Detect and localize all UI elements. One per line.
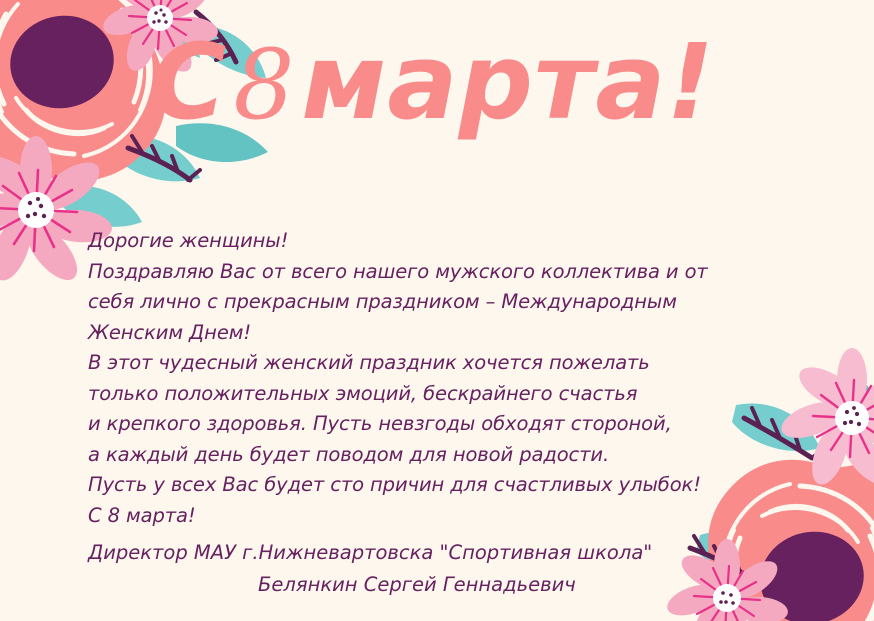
body-line: только положительных эмоций, бескрайнего… bbox=[88, 379, 778, 410]
body-line: В этот чудесный женский праздник хочется… bbox=[88, 348, 778, 379]
greeting-card: С8марта! Дорогие женщины! Поздравляю Вас… bbox=[0, 0, 874, 621]
pink-daisy-bottom-right-upper bbox=[777, 348, 874, 492]
body-line: Поздравляю Вас от всего нашего мужского … bbox=[88, 257, 778, 288]
greeting-body: Дорогие женщины! Поздравляю Вас от всего… bbox=[88, 226, 778, 531]
signature-name: Белянкин Сергей Геннадьевич bbox=[88, 569, 788, 601]
headline-suffix: марта! bbox=[301, 21, 715, 143]
body-line: Пусть у всех Вас будет сто причин для сч… bbox=[88, 470, 778, 501]
signature-title: Директор МАУ г.Нижневартовска "Спортивна… bbox=[88, 537, 788, 569]
body-line: и крепкого здоровья. Пусть невзгоды обхо… bbox=[88, 409, 778, 440]
body-line: Женским Днем! bbox=[88, 318, 778, 349]
signature-block: Директор МАУ г.Нижневартовска "Спортивна… bbox=[88, 537, 788, 601]
headline-number: 8 bbox=[227, 29, 301, 141]
body-line: а каждый день будет поводом для новой ра… bbox=[88, 440, 778, 471]
body-line: Дорогие женщины! bbox=[88, 226, 778, 257]
coral-rose-top-left bbox=[0, 0, 166, 219]
headline-prefix: С bbox=[150, 21, 227, 143]
headline: С8марта! bbox=[150, 30, 874, 134]
body-line: С 8 марта! bbox=[88, 501, 778, 532]
body-line: себя лично с прекрасным праздником – Меж… bbox=[88, 287, 778, 318]
